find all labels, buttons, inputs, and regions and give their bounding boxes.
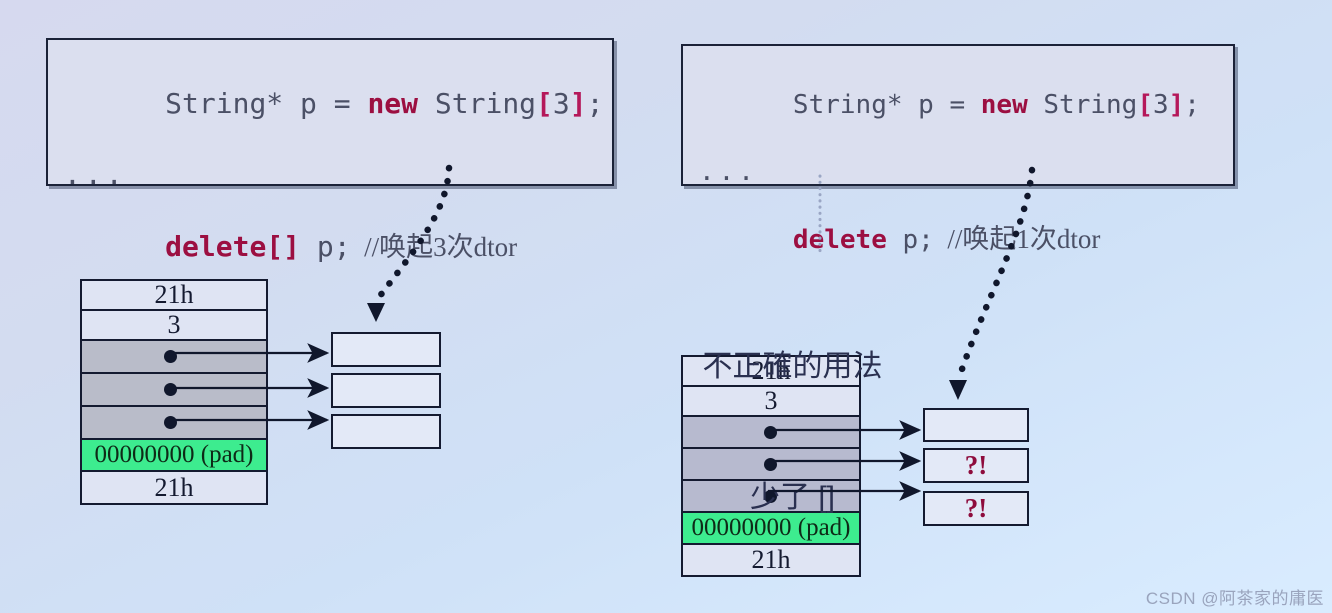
csdn-watermark: CSDN @阿茶家的庸医 <box>1146 584 1324 609</box>
left-memrow-6: 21h <box>82 472 266 503</box>
left-code-l1-rbracket: ] <box>570 87 587 120</box>
left-code-l1-semicolon: ; <box>587 87 604 120</box>
left-code-box: String* p = new String[3]; ... delete[] … <box>46 38 614 186</box>
left-code-l1-lbracket: [ <box>536 87 553 120</box>
left-target-cell-1 <box>331 373 441 408</box>
right-code-l1-number: 3 <box>1153 90 1169 120</box>
left-memrow-3 <box>82 374 266 407</box>
right-code-l1-keyword: new <box>981 90 1028 120</box>
left-memrow-2 <box>82 341 266 374</box>
left-pointer-dot-0 <box>164 350 177 363</box>
left-memory-block: 21h 3 00000000 (pad) 21h <box>80 279 268 505</box>
right-code-l3-keyword: delete <box>793 225 887 255</box>
right-code-l1-rbracket: ] <box>1169 90 1185 120</box>
left-code-l3-comment: //唤起3次dtor <box>351 232 518 262</box>
right-code-l3-comment: //唤起1次dtor <box>934 224 1101 254</box>
left-code-line-1: String* p = new String[3]; <box>64 50 596 157</box>
left-code-line-2: ... <box>64 157 596 193</box>
right-code-line-1: String* p = new String[3]; <box>699 56 1217 156</box>
right-target-cell-1: ?! <box>923 448 1029 483</box>
left-code-l3-var: p; <box>300 230 351 263</box>
incorrect-usage-annotation: 不正確的用法 少了 [] <box>665 258 920 606</box>
right-code-l3-var: p; <box>887 225 934 255</box>
left-memrow-0: 21h <box>82 281 266 311</box>
left-pointer-dot-2 <box>164 416 177 429</box>
annotation-line-1: 不正確的用法 <box>665 345 920 389</box>
left-code-l1-number: 3 <box>553 87 570 120</box>
left-target-cell-2 <box>331 414 441 449</box>
left-memrow-1: 3 <box>82 311 266 341</box>
left-memrow-4 <box>82 407 266 440</box>
left-pointer-dot-1 <box>164 383 177 396</box>
right-target-cell-0 <box>923 408 1029 442</box>
left-memrow-pad: 00000000 (pad) <box>82 440 266 472</box>
right-code-l1-pre: String* p = <box>793 90 981 120</box>
right-code-l1-lbracket: [ <box>1137 90 1153 120</box>
right-code-box: String* p = new String[3]; ... delete p;… <box>681 44 1235 186</box>
annotation-line-2: 少了 [] <box>665 476 920 520</box>
left-code-l1-pre: String* p = <box>165 87 367 120</box>
right-code-line-2: ... <box>699 156 1217 189</box>
left-code-l3-keyword: delete[] <box>165 230 300 263</box>
slide-canvas: String* p = new String[3]; ... delete[] … <box>0 0 1332 613</box>
right-code-l1-semicolon: ; <box>1184 90 1200 120</box>
left-code-l1-mid: String <box>418 87 536 120</box>
left-target-cell-0 <box>331 332 441 367</box>
left-code-l1-keyword: new <box>367 87 418 120</box>
right-target-cell-2: ?! <box>923 491 1029 526</box>
right-code-l1-mid: String <box>1028 90 1138 120</box>
